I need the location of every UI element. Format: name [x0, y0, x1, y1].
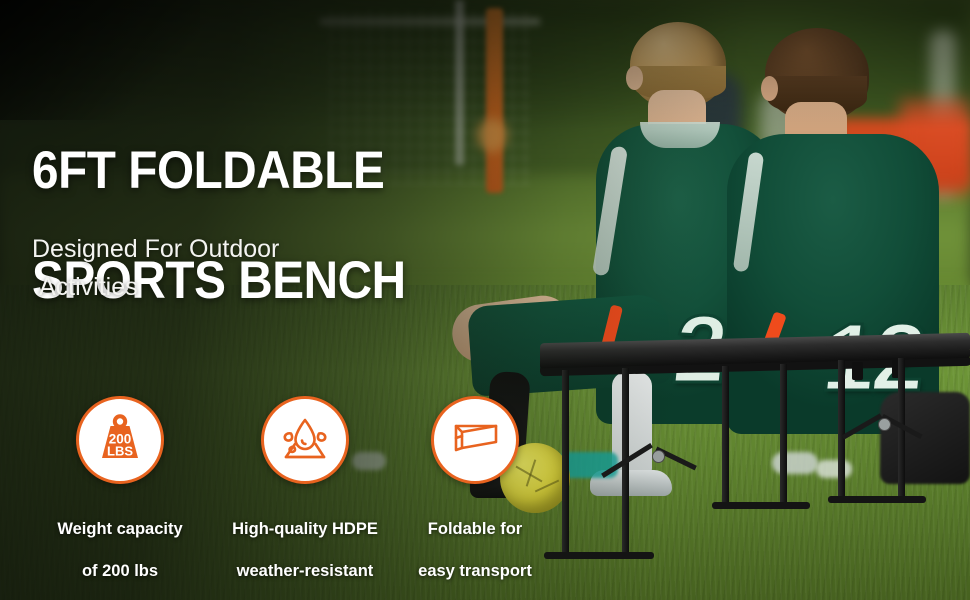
feature-3-line-1: Foldable for [390, 519, 560, 540]
feature-list: 200 LBS Weight capacity of 200 lbs [22, 396, 552, 546]
feature-icon-circle-1: 200 LBS [76, 396, 164, 484]
subtitle-line-1: Designed For Outdoor [32, 235, 279, 263]
feature-icon-circle-2 [261, 396, 349, 484]
feature-icon-circle-3 [431, 396, 519, 484]
headline-line-1: 6FT FOLDABLE [32, 143, 406, 198]
banner-content: 6FT FOLDABLE SPORTS BENCH Designed For O… [0, 0, 970, 600]
product-banner: 2 12 [0, 0, 970, 600]
feature-label-2: High-quality HDPE weather-resistant [220, 498, 390, 600]
weight-icon-unit: LBS [107, 444, 133, 459]
feature-item-weight-capacity: 200 LBS Weight capacity of 200 lbs [35, 396, 205, 600]
water-resistant-droplet-icon [277, 414, 333, 466]
feature-label-1: Weight capacity of 200 lbs [35, 498, 205, 600]
page-subtitle: Designed For Outdoor Activities [32, 230, 279, 306]
feature-2-line-2: weather-resistant [220, 561, 390, 582]
subtitle-line-2: Activities [32, 268, 279, 306]
page-title: 6FT FOLDABLE SPORTS BENCH [32, 88, 406, 363]
feature-item-foldable: Foldable for easy transport [390, 396, 560, 600]
foldable-bench-icon [447, 416, 503, 464]
feature-1-line-2: of 200 lbs [35, 561, 205, 582]
feature-3-line-2: easy transport [390, 561, 560, 582]
feature-item-weather-resistant: High-quality HDPE weather-resistant [220, 396, 390, 600]
feature-1-line-1: Weight capacity [35, 519, 205, 540]
feature-2-line-1: High-quality HDPE [220, 519, 390, 540]
feature-label-3: Foldable for easy transport [390, 498, 560, 600]
weight-200lbs-icon: 200 LBS [93, 413, 147, 467]
